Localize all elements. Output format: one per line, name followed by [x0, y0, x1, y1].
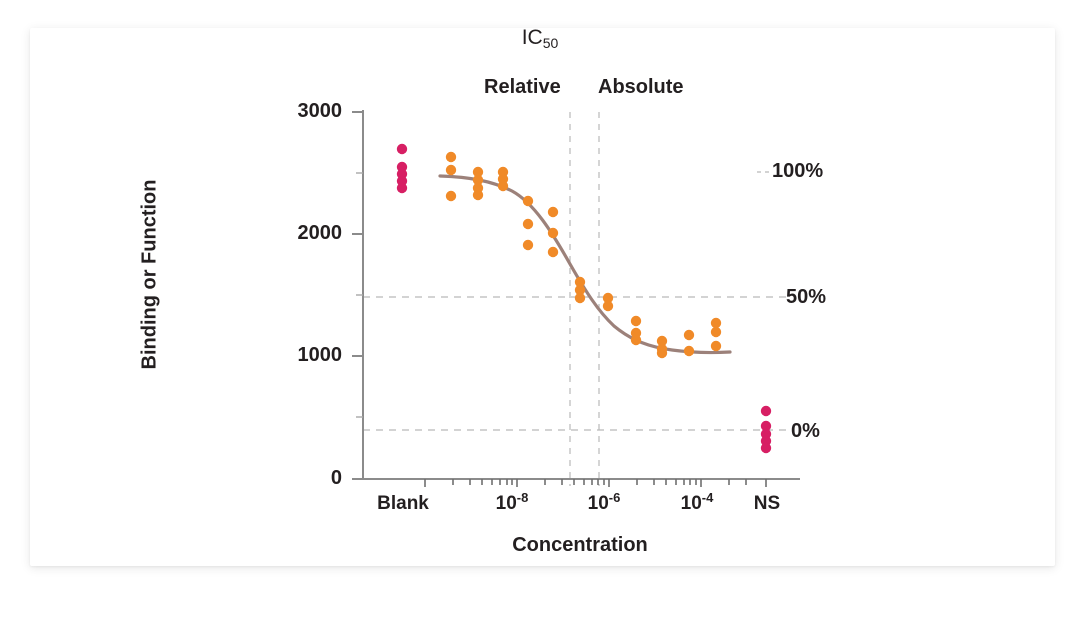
- data-point: [603, 301, 613, 311]
- data-point: [711, 327, 721, 337]
- annotation-label-relative: Relative: [484, 76, 561, 99]
- y-tick-label-3000: 3000: [252, 100, 342, 123]
- y-axis-label: Binding or Function: [139, 115, 162, 435]
- data-point: [523, 240, 533, 250]
- x-tick-label-1e-6: 10-6: [559, 493, 649, 515]
- data-point: [446, 152, 456, 162]
- chart-title-main: IC: [522, 26, 543, 49]
- fit-curve: [440, 176, 730, 353]
- screenshot-root: IC50 Relative Absolute Binding or Functi…: [0, 0, 1080, 618]
- series-blank-controls: [397, 144, 407, 193]
- data-point: [684, 346, 694, 356]
- data-point: [523, 196, 533, 206]
- y-tick-label-0: 0: [252, 467, 342, 490]
- right-axis-label-0pct: 0%: [791, 420, 820, 443]
- data-point: [498, 181, 508, 191]
- data-point: [631, 316, 641, 326]
- x-axis-ticks: [425, 479, 766, 487]
- x-axis-label: Concentration: [380, 534, 780, 557]
- data-point: [761, 443, 771, 453]
- x-tick-label-ns: NS: [722, 493, 812, 515]
- data-point: [657, 348, 667, 358]
- data-point: [761, 406, 771, 416]
- data-point: [446, 165, 456, 175]
- y-axis-minor-ticks: [356, 173, 363, 417]
- right-axis-label-100pct: 100%: [772, 160, 823, 183]
- x-tick-label-1e-8: 10-8: [467, 493, 557, 515]
- series-ns-controls: [761, 406, 771, 453]
- data-point: [523, 219, 533, 229]
- data-point: [575, 293, 585, 303]
- data-point: [684, 330, 694, 340]
- data-point: [397, 144, 407, 154]
- chart-title-subscript: 50: [543, 35, 559, 51]
- data-point: [711, 318, 721, 328]
- data-point: [446, 191, 456, 201]
- data-point: [711, 341, 721, 351]
- x-tick-label-blank: Blank: [358, 493, 448, 515]
- y-tick-label-2000: 2000: [252, 222, 342, 245]
- y-tick-label-1000: 1000: [252, 344, 342, 367]
- annotation-label-absolute: Absolute: [598, 76, 684, 99]
- data-point: [548, 228, 558, 238]
- right-axis-label-50pct: 50%: [786, 286, 826, 309]
- data-point: [397, 183, 407, 193]
- chart-title: IC50: [0, 26, 1080, 50]
- data-point: [473, 190, 483, 200]
- data-point: [548, 207, 558, 217]
- data-point: [631, 335, 641, 345]
- data-point: [548, 247, 558, 257]
